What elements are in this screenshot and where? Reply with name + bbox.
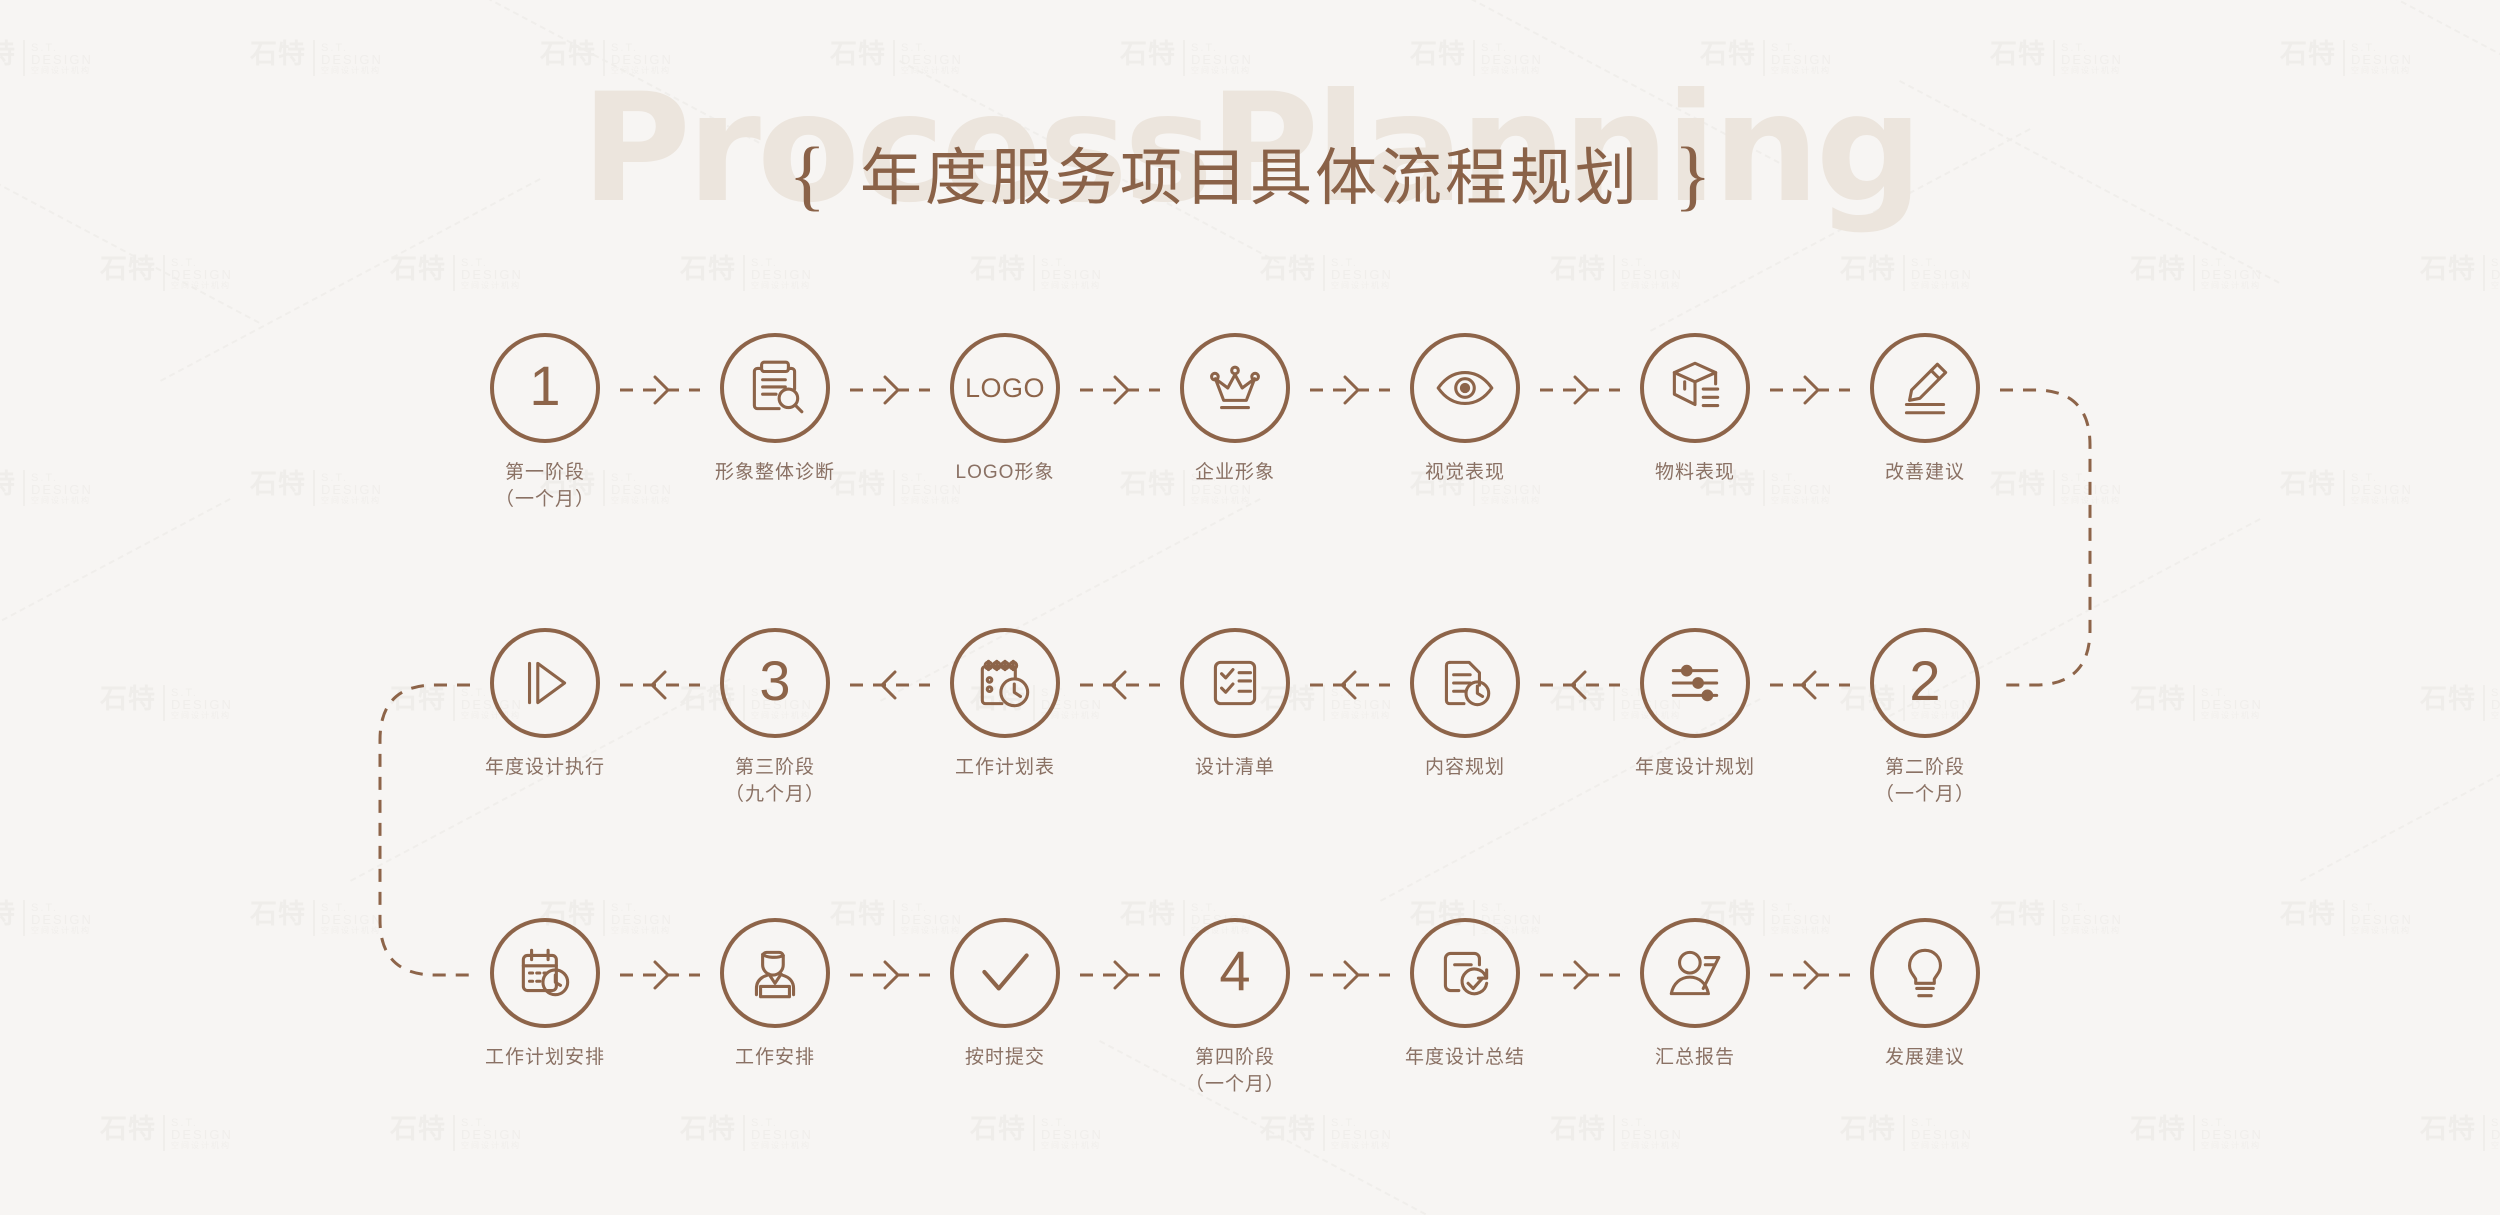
flow-node-label: 改善建议: [1830, 459, 2020, 486]
flow-node[interactable]: 改善建议: [1830, 333, 2020, 486]
connector-arrowhead: [652, 672, 665, 698]
sliders-icon[interactable]: [1640, 628, 1750, 738]
connector-arrowhead: [882, 672, 895, 698]
flow-node[interactable]: 年度设计执行: [450, 628, 640, 781]
connector-arrowhead: [1112, 672, 1125, 698]
play-skip-icon[interactable]: [490, 628, 600, 738]
connector-arrowhead: [1575, 962, 1588, 988]
flow-node[interactable]: 工作安排: [680, 918, 870, 1071]
pen-write-icon[interactable]: [1870, 333, 1980, 443]
connector-arrowhead: [1572, 672, 1585, 698]
connector-arrowhead: [655, 962, 668, 988]
flow-node[interactable]: 内容规划: [1370, 628, 1560, 781]
flow-node[interactable]: 工作计划表: [910, 628, 1100, 781]
connector-arrowhead: [1345, 377, 1358, 403]
flow-diagram: 1第一阶段 （一个月）形象整体诊断LOGOLOGO形象企业形象视觉表现物料表现改…: [0, 0, 2500, 1215]
eye-icon[interactable]: [1410, 333, 1520, 443]
number-2-icon[interactable]: 2: [1870, 628, 1980, 738]
flow-node-label: 汇总报告: [1600, 1044, 1790, 1071]
step-number: 4: [1219, 943, 1250, 999]
flow-node[interactable]: 设计清单: [1140, 628, 1330, 781]
check-icon[interactable]: [950, 918, 1060, 1028]
flow-node-label: 年度设计执行: [450, 754, 640, 781]
flow-node[interactable]: 物料表现: [1600, 333, 1790, 486]
connector-arrowhead: [1342, 672, 1355, 698]
logo-text: LOGO: [965, 375, 1045, 402]
person-report-icon[interactable]: [1640, 918, 1750, 1028]
connector-arrowhead: [885, 962, 898, 988]
step-number: 3: [759, 653, 790, 709]
flow-node[interactable]: LOGOLOGO形象: [910, 333, 1100, 486]
flow-node-label: 企业形象: [1140, 459, 1330, 486]
connector-arrowhead: [885, 377, 898, 403]
box-package-icon[interactable]: [1640, 333, 1750, 443]
flow-node-label: 内容规划: [1370, 754, 1560, 781]
connector-arrowhead: [1802, 672, 1815, 698]
flow-node[interactable]: 汇总报告: [1600, 918, 1790, 1071]
note-check-icon[interactable]: [1410, 918, 1520, 1028]
number-1-icon[interactable]: 1: [490, 333, 600, 443]
connector-arrowhead: [1805, 962, 1818, 988]
flow-node-label: 按时提交: [910, 1044, 1100, 1071]
flow-node[interactable]: 1第一阶段 （一个月）: [450, 333, 640, 513]
flow-node-label: 工作计划表: [910, 754, 1100, 781]
flow-node-label: LOGO形象: [910, 459, 1100, 486]
number-4-icon[interactable]: 4: [1180, 918, 1290, 1028]
flow-node[interactable]: 形象整体诊断: [680, 333, 870, 486]
flow-node[interactable]: 3第三阶段 （九个月）: [680, 628, 870, 808]
flow-node-label: 发展建议: [1830, 1044, 2020, 1071]
crown-icon[interactable]: [1180, 333, 1290, 443]
flow-node[interactable]: 企业形象: [1140, 333, 1330, 486]
flow-node[interactable]: 视觉表现: [1370, 333, 1560, 486]
step-number: 2: [1909, 653, 1940, 709]
flow-node-label: 视觉表现: [1370, 459, 1560, 486]
flow-node[interactable]: 4第四阶段 （一个月）: [1140, 918, 1330, 1098]
flow-node-label: 第四阶段 （一个月）: [1140, 1044, 1330, 1098]
flow-node-label: 工作安排: [680, 1044, 870, 1071]
flow-node-label: 工作计划安排: [450, 1044, 640, 1071]
lightbulb-icon[interactable]: [1870, 918, 1980, 1028]
checklist-icon[interactable]: [1180, 628, 1290, 738]
connector-arrowhead: [655, 377, 668, 403]
flow-node-label: 年度设计规划: [1600, 754, 1790, 781]
flow-node-label: 物料表现: [1600, 459, 1790, 486]
number-3-icon[interactable]: 3: [720, 628, 830, 738]
calendar-clock-icon[interactable]: [950, 628, 1060, 738]
connector-arrowhead: [1575, 377, 1588, 403]
flow-node-label: 年度设计总结: [1370, 1044, 1560, 1071]
clipboard-search-icon[interactable]: [720, 333, 830, 443]
person-desk-icon[interactable]: [720, 918, 830, 1028]
flow-node[interactable]: 发展建议: [1830, 918, 2020, 1071]
connector-arrowhead: [1345, 962, 1358, 988]
flow-node[interactable]: 年度设计规划: [1600, 628, 1790, 781]
flow-node[interactable]: 按时提交: [910, 918, 1100, 1071]
flow-node-label: 第二阶段 （一个月）: [1830, 754, 2020, 808]
document-clock-icon[interactable]: [1410, 628, 1520, 738]
connector-arrowhead: [1115, 377, 1128, 403]
logo-text-icon[interactable]: LOGO: [950, 333, 1060, 443]
flow-node[interactable]: 2第二阶段 （一个月）: [1830, 628, 2020, 808]
flow-node-label: 设计清单: [1140, 754, 1330, 781]
connector-arrowhead: [1805, 377, 1818, 403]
flow-node[interactable]: 年度设计总结: [1370, 918, 1560, 1071]
connector-arrowhead: [1115, 962, 1128, 988]
flow-node-label: 形象整体诊断: [680, 459, 870, 486]
calendar-schedule-icon[interactable]: [490, 918, 600, 1028]
step-number: 1: [529, 358, 560, 414]
flow-node-label: 第三阶段 （九个月）: [680, 754, 870, 808]
flow-node[interactable]: 工作计划安排: [450, 918, 640, 1071]
flow-node-label: 第一阶段 （一个月）: [450, 459, 640, 513]
